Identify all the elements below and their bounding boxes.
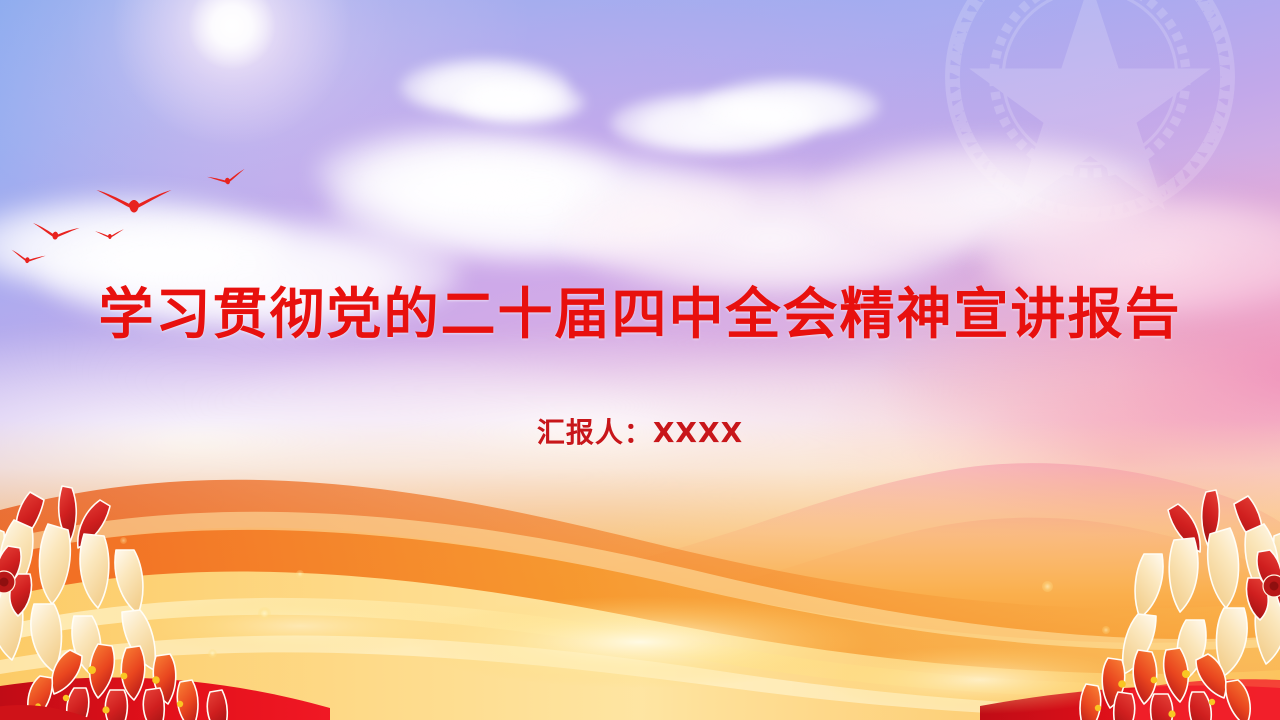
cloud xyxy=(400,58,570,116)
title-slide: 学习贯彻党的二十届四中全会精神宣讲报告 汇报人：XXXX xyxy=(0,0,1280,720)
title-block: 学习贯彻党的二十届四中全会精神宣讲报告 xyxy=(0,283,1280,345)
presenter-subtitle: 汇报人：XXXX xyxy=(0,415,1280,451)
peony-flower-cluster-right xyxy=(984,488,1280,720)
cloud xyxy=(700,78,880,134)
page-title: 学习贯彻党的二十届四中全会精神宣讲报告 xyxy=(0,283,1280,345)
cloud xyxy=(455,80,585,124)
peony-flower-cluster-left xyxy=(0,484,304,720)
cloud xyxy=(330,150,750,260)
subtitle-block: 汇报人：XXXX xyxy=(0,415,1280,451)
cloud xyxy=(316,128,616,220)
cloud xyxy=(560,172,980,292)
party-star-emblem-watermark xyxy=(935,0,1245,232)
flying-birds-flock xyxy=(0,150,260,290)
cloud xyxy=(610,92,820,154)
